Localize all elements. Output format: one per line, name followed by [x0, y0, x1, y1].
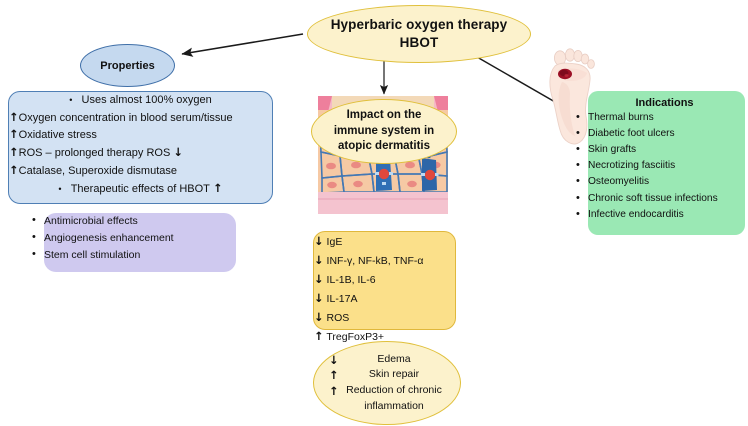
down-arrow-icon — [314, 310, 324, 324]
outcome-list-item: Reduction of chronic inflammation — [329, 383, 445, 415]
up-arrow-icon — [314, 329, 324, 343]
effects-box: Antimicrobial effectsAngiogenesis enhanc… — [44, 213, 236, 272]
marker-list-item: ROS — [314, 308, 455, 327]
properties-list-item: ROS – prolonged therapy ROS — [9, 144, 272, 162]
marker-list-item: INF-γ, NF-kB, TNF-α — [314, 251, 455, 270]
properties-list: • Uses almost 100% oxygenOxygen concentr… — [9, 92, 272, 197]
effects-list: Antimicrobial effectsAngiogenesis enhanc… — [44, 213, 236, 264]
properties-item-text: Oxygen concentration in blood serum/tiss… — [19, 112, 233, 124]
marker-list-item: IL-17A — [314, 289, 455, 308]
up-arrow-icon — [9, 163, 19, 177]
properties-list-item: • Therapeutic effects of HBOT — [9, 180, 272, 198]
up-arrow-icon — [329, 367, 339, 384]
marker-list-item: IgE — [314, 232, 455, 251]
effects-list-item: Stem cell stimulation — [44, 247, 236, 264]
outcome-item-text: Skin repair — [369, 368, 419, 380]
marker-item-text: IgE — [324, 236, 343, 248]
indications-title: Indications — [588, 97, 741, 109]
indications-list-item: Thermal burns — [588, 110, 741, 126]
up-arrow-icon — [213, 181, 223, 195]
properties-box: • Uses almost 100% oxygenOxygen concentr… — [8, 91, 273, 204]
down-arrow-icon — [173, 145, 183, 159]
indications-list: Thermal burnsDiabetic foot ulcersSkin gr… — [588, 110, 741, 223]
indications-list-item: Infective endocarditis — [588, 207, 741, 223]
hbot-title-node[interactable]: Hyperbaric oxygen therapy HBOT — [307, 5, 531, 63]
marker-item-text: IL-17A — [324, 293, 358, 305]
properties-label: Properties — [100, 60, 154, 72]
effects-list-item: Angiogenesis enhancement — [44, 230, 236, 247]
indications-list-item: Chronic soft tissue infections — [588, 191, 741, 207]
indications-list-item: Skin grafts — [588, 142, 741, 158]
properties-item-text: ROS – prolonged therapy ROS — [19, 147, 171, 159]
arrow-hbot-to-properties — [182, 34, 303, 54]
down-arrow-icon — [314, 234, 324, 248]
down-arrow-icon — [314, 272, 324, 286]
properties-item-text: Oxidative stress — [19, 129, 97, 141]
outcomes-list: EdemaSkin repairReduction of chronic inf… — [329, 352, 445, 415]
up-arrow-icon — [9, 127, 19, 141]
outcome-item-text: Reduction of chronic inflammation — [346, 384, 442, 412]
marker-item-text: INF-γ, NF-kB, TNF-α — [324, 255, 424, 267]
down-arrow-icon — [314, 291, 324, 305]
properties-item-text: Uses almost 100% oxygen — [72, 94, 211, 106]
impact-title-text: Impact on the immune system in atopic de… — [334, 108, 434, 155]
marker-item-text: ROS — [324, 312, 350, 324]
outcome-list-item: Edema — [329, 352, 445, 368]
down-arrow-icon — [314, 253, 324, 267]
outcome-item-text: Edema — [377, 353, 410, 365]
outcome-list-item: Skin repair — [329, 367, 445, 383]
impact-node[interactable]: Impact on the immune system in atopic de… — [311, 99, 457, 164]
up-arrow-icon — [329, 383, 339, 400]
diagram-canvas: Hyperbaric oxygen therapy HBOT Propertie… — [0, 0, 748, 426]
hbot-title-text: Hyperbaric oxygen therapy HBOT — [331, 16, 508, 52]
effects-list-item: Antimicrobial effects — [44, 213, 236, 230]
indications-list-item: Necrotizing fasciitis — [588, 158, 741, 174]
properties-list-item: Oxidative stress — [9, 126, 272, 144]
down-arrow-icon — [329, 352, 339, 369]
properties-list-item: Catalase, Superoxide dismutase — [9, 162, 272, 180]
marker-list-item: IL-1B, IL-6 — [314, 270, 455, 289]
properties-list-item: Oxygen concentration in blood serum/tiss… — [9, 109, 272, 127]
indications-list-item: Diabetic foot ulcers — [588, 126, 741, 142]
markers-box: IgE INF-γ, NF-kB, TNF-α IL-1B, IL-6 IL-1… — [313, 231, 456, 330]
indications-list-item: Osteomyelitis — [588, 174, 741, 190]
properties-list-item: • Uses almost 100% oxygen — [9, 92, 272, 109]
up-arrow-icon — [9, 110, 19, 124]
marker-item-text: IL-1B, IL-6 — [324, 274, 376, 286]
properties-item-text: Therapeutic effects of HBOT — [62, 183, 210, 195]
indications-box: Indications Thermal burnsDiabetic foot u… — [588, 91, 745, 235]
outcomes-node[interactable]: EdemaSkin repairReduction of chronic inf… — [313, 341, 461, 425]
up-arrow-icon — [9, 145, 19, 159]
indications-content: Indications Thermal burnsDiabetic foot u… — [588, 91, 745, 229]
properties-node[interactable]: Properties — [80, 44, 175, 87]
properties-item-text: Catalase, Superoxide dismutase — [19, 165, 177, 177]
markers-list: IgE INF-γ, NF-kB, TNF-α IL-1B, IL-6 IL-1… — [314, 232, 455, 346]
